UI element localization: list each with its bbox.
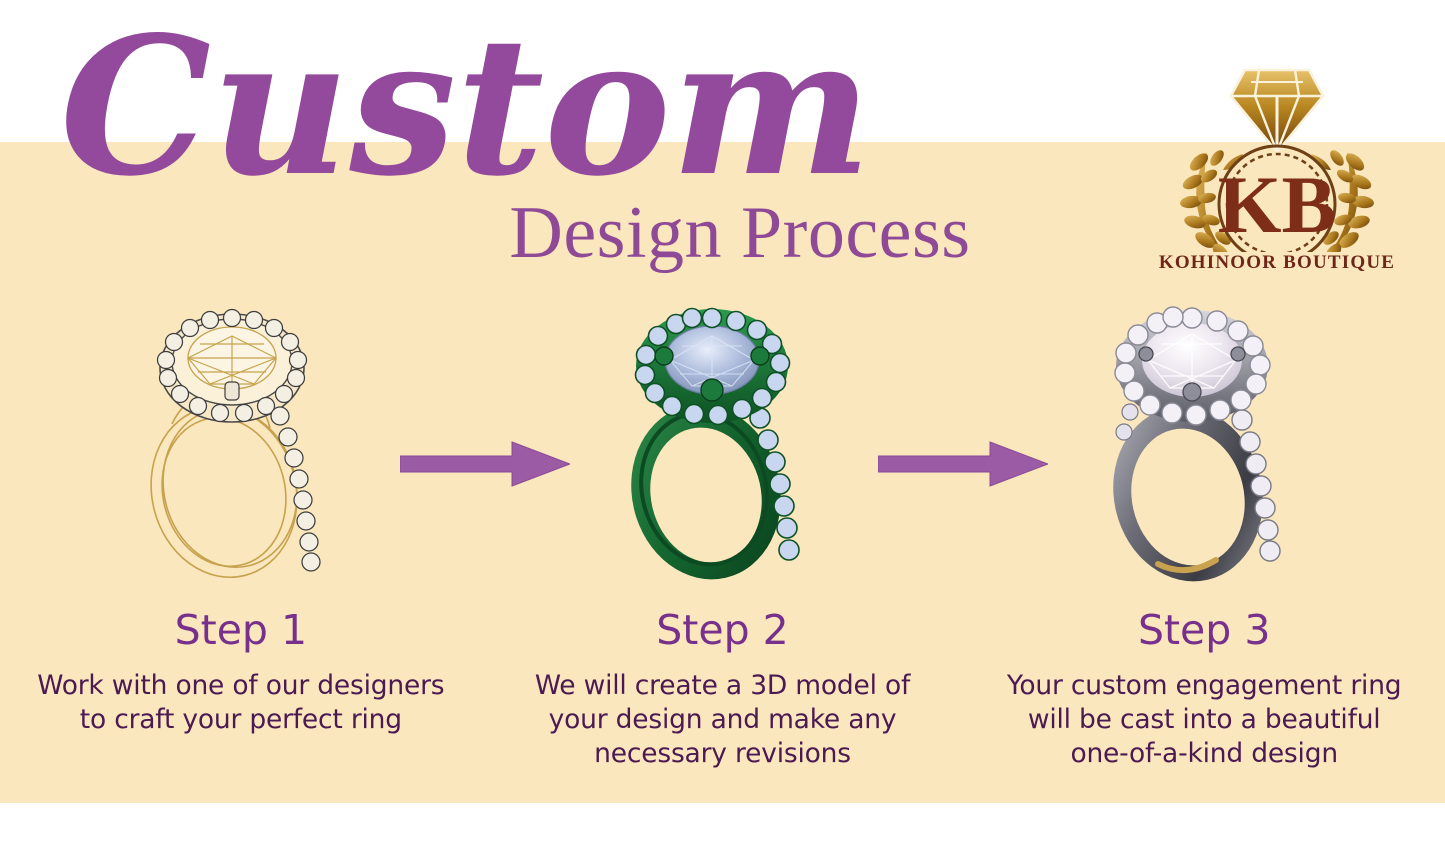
step-2-title: Step 2 (496, 608, 950, 653)
arrow-step2-to-step3 (878, 441, 1048, 487)
step-3-desc-line-3: one-of-a-kind design (977, 737, 1431, 771)
process-steps-visual-row (0, 296, 1445, 596)
logo-monogram-text: KB (1218, 159, 1336, 250)
step-2-description: We will create a 3D model of your design… (496, 669, 950, 771)
step-2-desc-line-3: necessary revisions (496, 737, 950, 771)
process-steps-captions-row: Step 1 Work with one of our designers to… (0, 608, 1445, 803)
step-1-title: Step 1 (14, 608, 468, 653)
diamond-icon (1231, 70, 1323, 152)
step-2-ring-3d-model (600, 296, 850, 586)
step-1-desc-line-1: Work with one of our designers (14, 669, 468, 703)
step-1-desc-line-2: to craft your perfect ring (14, 703, 468, 737)
step-3-caption: Step 3 Your custom engagement ring will … (963, 608, 1445, 803)
brand-logo[interactable]: KB KOHINOOR BOUTIQUE (1147, 56, 1407, 284)
arrow-step1-to-step2 (400, 441, 570, 487)
logo-wordmark: KOHINOOR BOUTIQUE (1147, 252, 1407, 274)
logo-mark: KB (1147, 56, 1407, 252)
step-1-description: Work with one of our designers to craft … (14, 669, 468, 737)
step-3-title: Step 3 (977, 608, 1431, 653)
step-3-description: Your custom engagement ring will be cast… (977, 669, 1431, 771)
headline-custom-script: Custom (52, 8, 702, 223)
step-2-desc-line-2: your design and make any (496, 703, 950, 737)
headline-custom-text: Custom (60, 0, 872, 218)
step-2-desc-line-1: We will create a 3D model of (496, 669, 950, 703)
headline-design-process: Design Process (470, 196, 1010, 270)
step-3-desc-line-2: will be cast into a beautiful (977, 703, 1431, 737)
step-3-finished-ring (1080, 296, 1330, 586)
step-1-caption: Step 1 Work with one of our designers to… (0, 608, 482, 803)
step-3-desc-line-1: Your custom engagement ring (977, 669, 1431, 703)
step-1-ring-sketch (120, 296, 370, 586)
step-2-caption: Step 2 We will create a 3D model of your… (482, 608, 964, 803)
custom-design-process-banner: Custom Design Process (0, 0, 1445, 849)
